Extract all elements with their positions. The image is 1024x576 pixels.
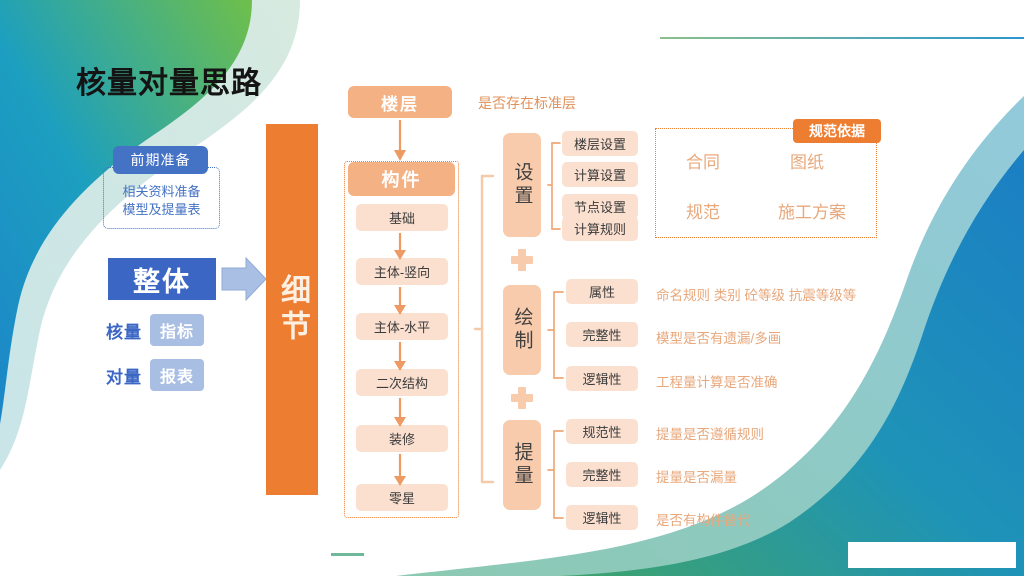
norm-cell-tuzhi: 图纸: [790, 148, 824, 173]
slide-canvas: 核量对量思路 前期准备 相关资料准备 模型及提量表 整体 核量 指标 对量 报表…: [0, 0, 1024, 576]
norm-basis-title-chip[interactable]: 规范依据: [793, 119, 881, 143]
group-item-brackets: [0, 0, 1024, 576]
plus-icon-2: [511, 387, 533, 409]
plus-icon-1: [511, 249, 533, 271]
norm-cell-guifan: 规范: [686, 198, 720, 223]
norm-cell-shigong-fangan: 施工方案: [778, 198, 846, 223]
norm-cell-hetong: 合同: [686, 148, 720, 173]
